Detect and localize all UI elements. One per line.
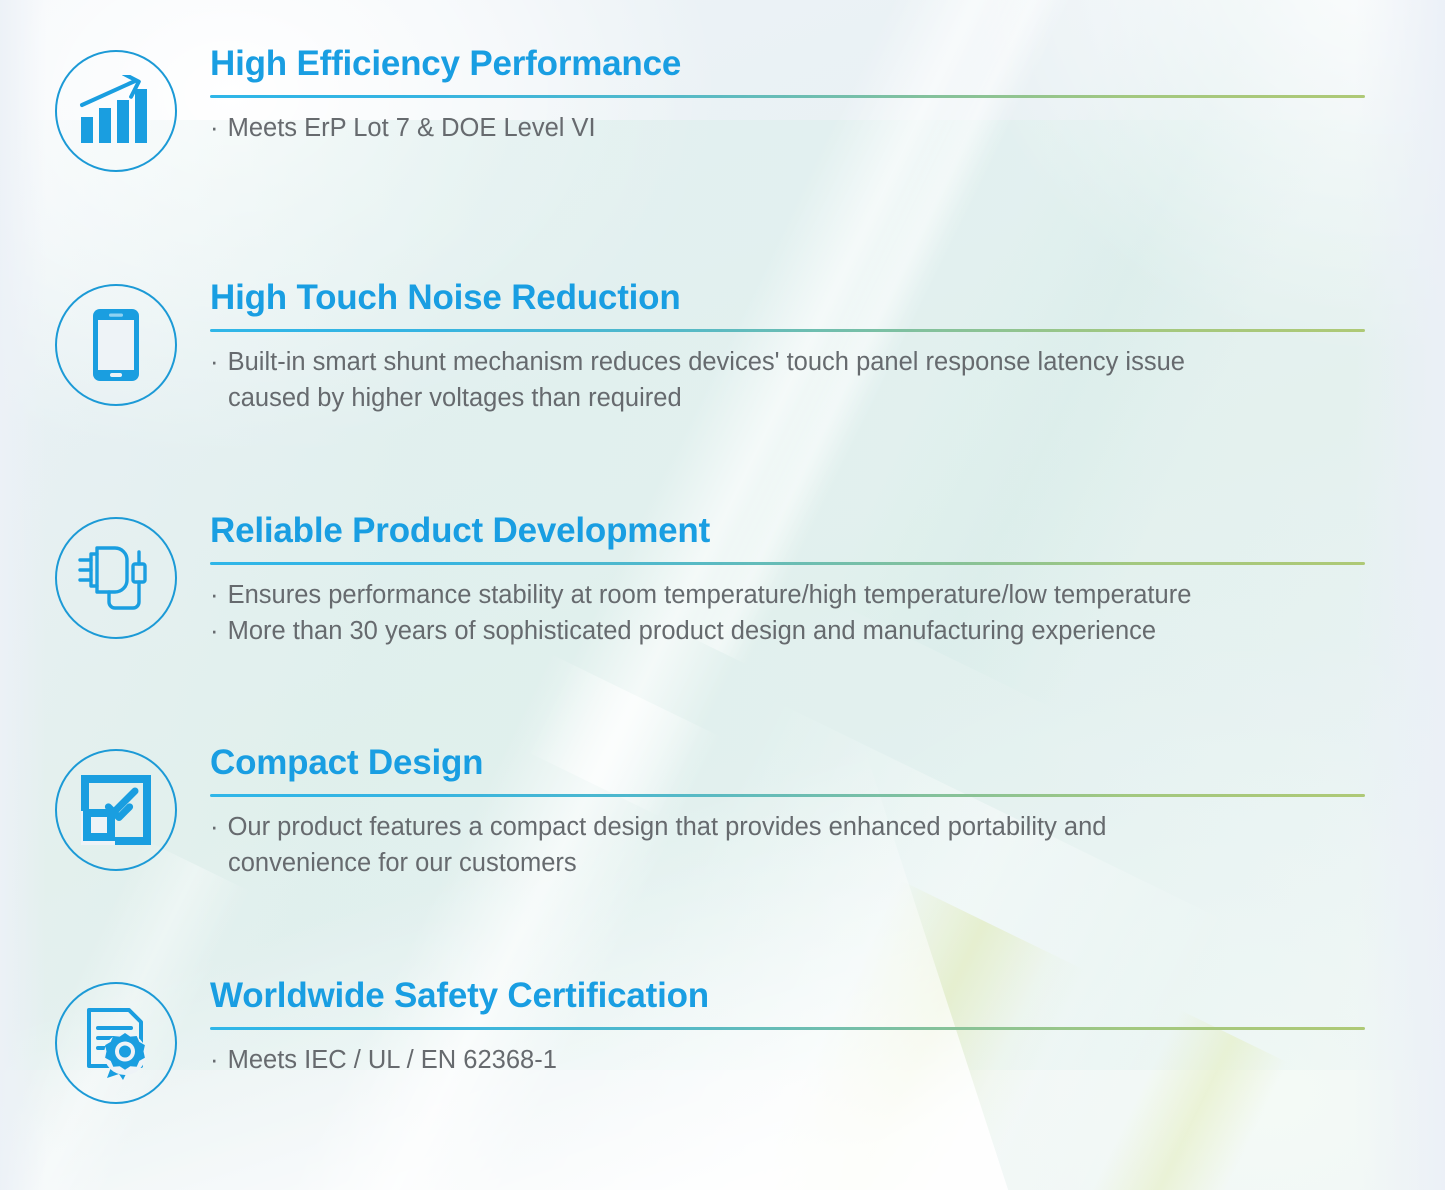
bullet-line: · Meets IEC / UL / EN 62368-1 xyxy=(210,1042,1375,1078)
feature-icon-container xyxy=(50,513,182,639)
power-adapter-icon xyxy=(55,517,177,639)
feature-body: Reliable Product Development · Ensures p… xyxy=(182,513,1445,649)
bullet-marker: · xyxy=(210,813,221,841)
feature-bullets: · Ensures performance stability at room … xyxy=(210,577,1375,649)
bar-chart-growth-icon xyxy=(55,50,177,172)
feature-icon-container xyxy=(50,978,182,1104)
feature-title: High Efficiency Performance xyxy=(210,46,1375,83)
bullet-marker: · xyxy=(210,581,221,609)
bullet-marker: · xyxy=(210,114,221,142)
feature-item-high-efficiency-performance: High Efficiency Performance · Meets ErP … xyxy=(0,46,1445,172)
bullet-line: · More than 30 years of sophisticated pr… xyxy=(210,613,1375,649)
feature-body: High Efficiency Performance · Meets ErP … xyxy=(182,46,1445,146)
feature-divider xyxy=(210,95,1365,98)
bullet-text: Meets IEC / UL / EN 62368-1 xyxy=(228,1046,557,1074)
feature-item-reliable-product-development: Reliable Product Development · Ensures p… xyxy=(0,513,1445,649)
feature-divider xyxy=(210,329,1365,332)
bullet-text: Our product features a compact design th… xyxy=(228,813,1107,841)
feature-divider xyxy=(210,562,1365,565)
bullet-line: · Our product features a compact design … xyxy=(210,809,1375,881)
bullet-line: · Meets ErP Lot 7 & DOE Level VI xyxy=(210,110,1375,146)
feature-title: Reliable Product Development xyxy=(210,513,1375,550)
feature-icon-container xyxy=(50,46,182,172)
feature-bullets: · Meets IEC / UL / EN 62368-1 xyxy=(210,1042,1375,1078)
certificate-award-icon xyxy=(55,982,177,1104)
feature-title: Worldwide Safety Certification xyxy=(210,978,1375,1015)
bullet-line: · Built-in smart shunt mechanism reduces… xyxy=(210,344,1375,416)
feature-bullets: · Our product features a compact design … xyxy=(210,809,1375,881)
feature-divider xyxy=(210,1027,1365,1030)
bullet-text: Meets ErP Lot 7 & DOE Level VI xyxy=(228,114,596,142)
feature-list-page: High Efficiency Performance · Meets ErP … xyxy=(0,0,1445,1190)
feature-title: Compact Design xyxy=(210,745,1375,782)
feature-bullets: · Meets ErP Lot 7 & DOE Level VI xyxy=(210,110,1375,146)
feature-divider xyxy=(210,794,1365,797)
feature-body: Worldwide Safety Certification · Meets I… xyxy=(182,978,1445,1078)
bullet-marker: · xyxy=(210,1046,221,1074)
feature-bullets: · Built-in smart shunt mechanism reduces… xyxy=(210,344,1375,416)
bullet-text-continued: convenience for our customers xyxy=(210,845,1375,881)
bullet-text: Built-in smart shunt mechanism reduces d… xyxy=(228,348,1185,376)
feature-item-high-touch-noise-reduction: High Touch Noise Reduction · Built-in sm… xyxy=(0,280,1445,416)
feature-icon-container xyxy=(50,745,182,871)
bullet-text: More than 30 years of sophisticated prod… xyxy=(228,617,1156,645)
feature-item-worldwide-safety-certification: Worldwide Safety Certification · Meets I… xyxy=(0,978,1445,1104)
shrink-square-icon xyxy=(55,749,177,871)
feature-item-compact-design: Compact Design · Our product features a … xyxy=(0,745,1445,881)
bullet-text-continued: caused by higher voltages than required xyxy=(210,380,1375,416)
bullet-text: Ensures performance stability at room te… xyxy=(228,581,1192,609)
bullet-marker: · xyxy=(210,348,221,376)
feature-icon-container xyxy=(50,280,182,406)
feature-body: High Touch Noise Reduction · Built-in sm… xyxy=(182,280,1445,416)
smartphone-icon xyxy=(55,284,177,406)
bullet-line: · Ensures performance stability at room … xyxy=(210,577,1375,613)
bullet-marker: · xyxy=(210,617,221,645)
feature-title: High Touch Noise Reduction xyxy=(210,280,1375,317)
feature-body: Compact Design · Our product features a … xyxy=(182,745,1445,881)
